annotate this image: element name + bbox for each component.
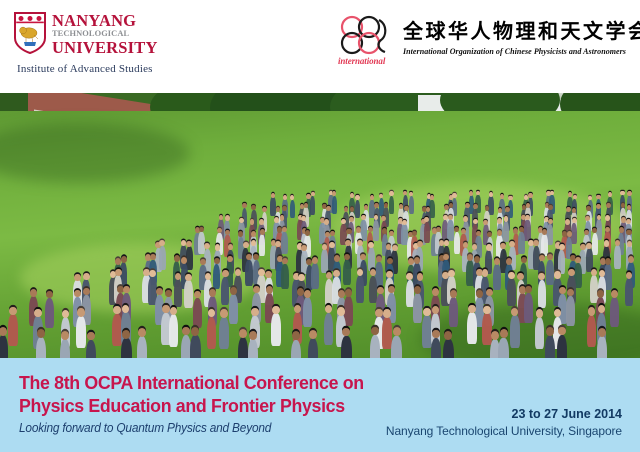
attendee-figure	[447, 220, 453, 241]
attendee-head	[186, 241, 192, 247]
attendee-head	[228, 244, 234, 250]
attendee-head	[330, 231, 335, 237]
attendee-figure	[391, 336, 401, 359]
attendee-head	[487, 232, 492, 238]
attendee-figure	[190, 335, 200, 358]
attendee-head	[591, 269, 598, 276]
attendee-head	[626, 230, 631, 236]
attendee-figure	[449, 297, 458, 327]
attendee-figure	[356, 275, 364, 303]
attendee-figure	[36, 337, 46, 358]
attendee-head	[115, 269, 122, 276]
attendee-head	[448, 270, 455, 277]
attendee-figure	[541, 234, 548, 256]
attendee-figure	[535, 317, 545, 349]
attendee-head	[559, 287, 566, 295]
attendee-head	[565, 219, 570, 224]
attendee-head	[500, 194, 504, 199]
attendee-figure	[86, 340, 96, 358]
attendee-head	[611, 290, 618, 298]
attendee-head	[409, 192, 413, 197]
attendee-head	[239, 329, 247, 338]
attendee-figure	[454, 232, 461, 254]
attendee-head	[486, 244, 492, 250]
attendee-head	[170, 307, 178, 315]
attendee-head	[156, 288, 163, 296]
attendee-head	[379, 194, 383, 199]
attendee-head	[329, 242, 335, 248]
attendee-head	[497, 218, 502, 223]
attendee-head	[572, 208, 577, 213]
attendee-figure	[482, 313, 492, 345]
attendee-head	[262, 207, 267, 212]
attendee-head	[230, 287, 237, 295]
attendee-head	[605, 258, 611, 265]
attendee-head	[280, 215, 285, 220]
attendee-figure	[558, 250, 565, 274]
attendee-head	[450, 290, 457, 298]
attendee-head	[209, 289, 216, 297]
attendee-figure	[169, 314, 179, 346]
attendee-head	[249, 331, 257, 340]
attendee-head	[215, 244, 221, 250]
attendee-figure	[467, 312, 477, 344]
attendee-head	[524, 195, 528, 200]
attendee-head	[559, 244, 565, 250]
attendee-head	[253, 254, 259, 261]
attendee-figure	[545, 335, 555, 358]
attendee-head	[482, 269, 489, 276]
attendee-figure	[538, 280, 546, 308]
attendee-head	[83, 273, 90, 280]
attendee-head	[554, 271, 561, 278]
conference-title: The 8th OCPA International Conference on…	[19, 372, 403, 417]
attendee-head	[191, 327, 199, 336]
attendee-head	[536, 309, 544, 317]
attendee-head	[383, 309, 391, 317]
attendee-head	[498, 208, 503, 213]
attendee-head	[74, 274, 81, 281]
attendee-head	[463, 216, 468, 221]
attendee-head	[604, 240, 610, 246]
attendee-head	[250, 219, 255, 224]
attendee-head	[334, 255, 340, 262]
attendee-head	[393, 327, 401, 336]
attendee-head	[628, 256, 634, 263]
attendee-head	[368, 227, 373, 233]
ntu-wordmark: NANYANG TECHNOLOGICAL UNIVERSITY	[52, 12, 158, 56]
attendee-head	[509, 241, 515, 247]
attendee-head	[243, 242, 249, 248]
attendee-head	[452, 193, 456, 198]
attendee-head	[504, 216, 509, 221]
attendee-head	[463, 242, 469, 248]
attendee-head	[337, 307, 345, 315]
ntu-wordmark-line1: NANYANG	[52, 13, 158, 29]
attendee-head	[272, 306, 280, 314]
attendee-figure	[193, 298, 202, 328]
attendee-head	[220, 309, 228, 317]
attendee-head	[377, 287, 384, 295]
attendee-head	[271, 193, 275, 198]
attendee-figure	[308, 338, 318, 358]
attendee-head	[465, 203, 470, 208]
attendee-head	[242, 203, 247, 208]
conference-venue: Nanyang Technological University, Singap…	[386, 424, 622, 438]
attendee-head	[214, 258, 220, 265]
attendee-head	[486, 289, 493, 297]
attendee-head	[165, 290, 172, 298]
attendee-head	[539, 255, 545, 262]
attendee-figure	[271, 313, 281, 345]
attendee-figure	[547, 224, 553, 245]
attendee-head	[259, 219, 264, 224]
attendee-figure	[373, 220, 379, 241]
attendee-figure	[60, 339, 70, 358]
attendee-head	[349, 217, 354, 222]
attendee-head	[505, 207, 510, 212]
attendee-head	[9, 307, 17, 315]
attendee-head	[344, 254, 350, 261]
attendee-head	[350, 193, 354, 198]
attendee-head	[596, 195, 600, 200]
attendee-head	[87, 332, 95, 341]
attendee-figure	[389, 196, 395, 215]
attendee-figure	[355, 200, 361, 219]
attendee-head	[392, 245, 398, 251]
attendee-head	[338, 290, 345, 298]
attendee-figure	[524, 220, 530, 241]
attendee-head	[508, 196, 512, 201]
attendee-head	[360, 254, 366, 261]
attendee-head	[566, 207, 571, 212]
attendee-head	[199, 227, 204, 233]
attendee-head	[497, 230, 502, 236]
attendee-figure	[311, 263, 319, 289]
attendee-figure	[614, 245, 621, 269]
attendee-head	[500, 243, 506, 249]
attendee-head	[430, 195, 434, 200]
attendee-head	[376, 256, 382, 263]
attendee-head	[123, 286, 130, 294]
attendee-head	[225, 215, 230, 220]
attendee-head	[239, 218, 244, 223]
attendee-head	[620, 191, 624, 196]
attendee-head	[432, 288, 439, 296]
attendee-head	[483, 220, 488, 225]
attendee-head	[357, 269, 364, 276]
attendee-head	[388, 286, 395, 294]
attendee-figure	[370, 335, 380, 358]
attendee-head	[304, 290, 311, 298]
attendee-head	[468, 305, 476, 313]
attendee-head	[251, 231, 256, 237]
ntu-wordmark-line3: UNIVERSITY	[52, 40, 158, 57]
attendee-head	[282, 206, 287, 211]
attendee-figure	[587, 315, 597, 347]
attendee-head	[384, 203, 389, 208]
attendee-head	[325, 305, 333, 313]
attendee-head	[491, 331, 499, 340]
attendee-figure	[571, 223, 577, 244]
attendee-head	[608, 192, 612, 197]
attendee-figure	[219, 317, 229, 349]
attendee-head	[30, 289, 37, 297]
attendee-head	[332, 191, 336, 196]
attendee-head	[402, 220, 407, 225]
attendee-head	[121, 256, 127, 263]
attendee-crowd	[0, 93, 640, 358]
attendee-figure	[332, 196, 338, 215]
attendee-figure	[207, 317, 217, 349]
attendee-head	[182, 327, 190, 336]
attendee-figure	[566, 296, 575, 326]
attendee-head	[312, 257, 318, 264]
attendee-head	[345, 289, 352, 297]
attendee-head	[548, 219, 553, 224]
attendee-head	[283, 195, 287, 200]
attendee-figure	[424, 222, 430, 243]
attendee-head	[333, 270, 340, 277]
attendee-figure	[121, 338, 131, 358]
attendee-head	[309, 330, 317, 339]
attendee-head	[37, 329, 45, 338]
attendee-head	[547, 254, 553, 261]
attendee-head	[404, 206, 409, 211]
attendee-head	[414, 257, 420, 264]
attendee-figure	[498, 338, 508, 359]
attendee-head	[222, 270, 229, 277]
attendee-head	[605, 215, 610, 220]
attendee-head	[266, 286, 273, 294]
attendee-head	[227, 256, 233, 263]
ntu-logo: NANYANG TECHNOLOGICAL UNIVERSITY	[14, 12, 158, 56]
conference-poster: NANYANG TECHNOLOGICAL UNIVERSITY Institu…	[0, 0, 640, 452]
attendee-head	[265, 271, 272, 278]
attendee-head	[448, 215, 453, 220]
attendee-head	[235, 269, 242, 276]
attendee-head	[0, 327, 7, 336]
attendee-head	[444, 331, 452, 340]
attendee-figure	[245, 260, 253, 286]
attendee-head	[508, 272, 515, 279]
attendee-head	[588, 307, 596, 315]
attendee-head	[326, 272, 333, 279]
attendee-head	[355, 195, 359, 200]
attendee-head	[325, 232, 330, 238]
attendee-figure	[510, 315, 520, 347]
attendee-figure	[310, 196, 316, 215]
attendee-figure	[409, 196, 415, 215]
attendee-head	[219, 215, 224, 220]
attendee-head	[417, 273, 424, 280]
attendee-figure	[184, 280, 192, 308]
attendee-head	[61, 331, 69, 340]
attendee-head	[528, 193, 532, 198]
attendee-head	[194, 291, 201, 299]
ocpa-name-block: 全球华人物理和天文学会 International Organization o…	[397, 14, 640, 56]
attendee-figure	[238, 337, 248, 358]
attendee-head	[368, 242, 374, 248]
attendee-head	[356, 227, 361, 233]
attendee-figure	[493, 264, 501, 290]
attendee-figure	[341, 336, 351, 358]
attendee-head	[473, 204, 478, 209]
attendee-head	[205, 273, 212, 280]
attendee-head	[474, 256, 480, 263]
attendee-head	[46, 291, 53, 299]
attendee-head	[542, 229, 547, 235]
attendee-figure	[137, 336, 147, 358]
attendee-head	[558, 327, 566, 336]
institute-of-advanced-studies-label: Institute of Advanced Studies	[17, 63, 153, 75]
attendee-figure	[518, 232, 525, 254]
attendee-head	[567, 231, 572, 237]
attendee-figure	[290, 200, 296, 219]
attendee-figure	[524, 293, 533, 323]
attendee-figure	[303, 297, 312, 327]
attendee-head	[494, 258, 500, 265]
attendee-head	[290, 195, 294, 200]
attendee-figure	[610, 297, 619, 327]
attendee-head	[342, 328, 350, 337]
attendee-figure	[321, 249, 328, 273]
attendee-head	[159, 240, 165, 246]
ocpa-english-name: International Organization of Chinese Ph…	[403, 47, 640, 56]
conference-tagline: Looking forward to Quantum Physics and B…	[19, 421, 271, 435]
attendee-head	[489, 192, 493, 197]
ocpa-chinese-name: 全球华人物理和天文学会	[403, 20, 640, 43]
attendee-head	[513, 228, 518, 234]
attendee-figure	[597, 336, 607, 358]
attendee-head	[346, 229, 351, 235]
ocpa-interlocking-circles-icon: international	[337, 14, 397, 72]
attendee-figure	[281, 232, 288, 254]
attendee-head	[454, 227, 459, 233]
attendee-head	[568, 192, 572, 197]
conference-banner: The 8th OCPA International Conference on…	[0, 358, 640, 452]
attendee-head	[304, 203, 309, 208]
attendee-head	[138, 328, 146, 337]
attendee-head	[444, 240, 450, 246]
attendee-figure	[159, 246, 166, 270]
attendee-head	[596, 204, 601, 209]
attendee-head	[389, 231, 394, 237]
attendee-head	[282, 227, 287, 233]
attendee-head	[357, 240, 363, 246]
attendee-figure	[625, 278, 633, 306]
attendee-figure	[592, 233, 599, 255]
attendee-figure	[259, 234, 266, 256]
attendee-head	[274, 217, 279, 222]
attendee-head	[260, 229, 265, 235]
attendee-head	[258, 269, 265, 276]
attendee-head	[598, 328, 606, 337]
ocpa-logo: international 全球华人物理和天文学会 International …	[337, 14, 640, 72]
attendee-head	[412, 231, 417, 237]
attendee-head	[204, 243, 210, 249]
attendee-head	[175, 273, 182, 280]
attendee-figure	[213, 264, 221, 290]
attendee-head	[345, 240, 351, 246]
attendee-head	[573, 195, 577, 200]
attendee-head	[627, 191, 631, 196]
conference-group-photo	[0, 93, 640, 358]
attendee-head	[276, 207, 281, 212]
attendee-head	[417, 241, 423, 247]
attendee-figure	[221, 277, 229, 305]
attendee-figure	[229, 294, 238, 324]
attendee-figure	[503, 221, 509, 242]
attendee-head	[548, 205, 553, 210]
attendee-figure	[368, 247, 375, 271]
ntu-shield-crest-icon	[14, 12, 46, 54]
attendee-head	[77, 308, 85, 316]
attendee-figure	[557, 335, 567, 358]
attendee-head	[364, 205, 369, 210]
attendee-head	[370, 195, 374, 200]
attendee-head	[443, 215, 448, 220]
ocpa-logo-caption: international	[338, 56, 385, 66]
attendee-figure	[382, 317, 392, 349]
attendee-figure	[270, 197, 276, 216]
attendee-head	[34, 309, 42, 317]
attendee-figure	[8, 314, 18, 346]
attendee-head	[586, 243, 592, 249]
attendee-head	[627, 205, 632, 210]
attendee-head	[525, 286, 532, 294]
attendee-head	[473, 219, 478, 224]
attendee-figure	[281, 264, 289, 290]
conference-dates: 23 to 27 June 2014	[512, 407, 622, 421]
poster-header: NANYANG TECHNOLOGICAL UNIVERSITY Institu…	[0, 0, 640, 93]
attendee-figure	[76, 316, 86, 348]
attendee-head	[62, 310, 70, 318]
attendee-head	[162, 305, 170, 313]
attendee-head	[615, 240, 621, 246]
attendee-figure	[324, 313, 334, 345]
attendee-figure	[45, 298, 54, 328]
attendee-head	[301, 245, 307, 251]
attendee-figure	[174, 279, 182, 307]
attendee-head	[414, 286, 421, 294]
attendee-head	[311, 192, 315, 197]
attendee-head	[619, 227, 624, 233]
attendee-figure	[248, 339, 258, 358]
attendee-head	[423, 308, 431, 316]
attendee-head	[521, 257, 527, 264]
attendee-head	[297, 288, 304, 296]
attendee-head	[500, 329, 508, 338]
attendee-figure	[413, 293, 422, 323]
attendee-head	[298, 274, 305, 281]
attendee-head	[483, 306, 491, 314]
attendee-head	[174, 255, 180, 262]
attendee-head	[606, 203, 611, 208]
attendee-figure	[507, 278, 515, 306]
attendee-figure	[343, 260, 351, 286]
attendee-head	[588, 196, 592, 201]
attendee-head	[282, 258, 288, 265]
attendee-head	[305, 230, 310, 236]
attendee-head	[185, 274, 192, 281]
attendee-head	[326, 206, 331, 211]
attendee-head	[403, 191, 407, 196]
attendee-figure	[443, 339, 453, 358]
attendee-head	[389, 191, 393, 196]
